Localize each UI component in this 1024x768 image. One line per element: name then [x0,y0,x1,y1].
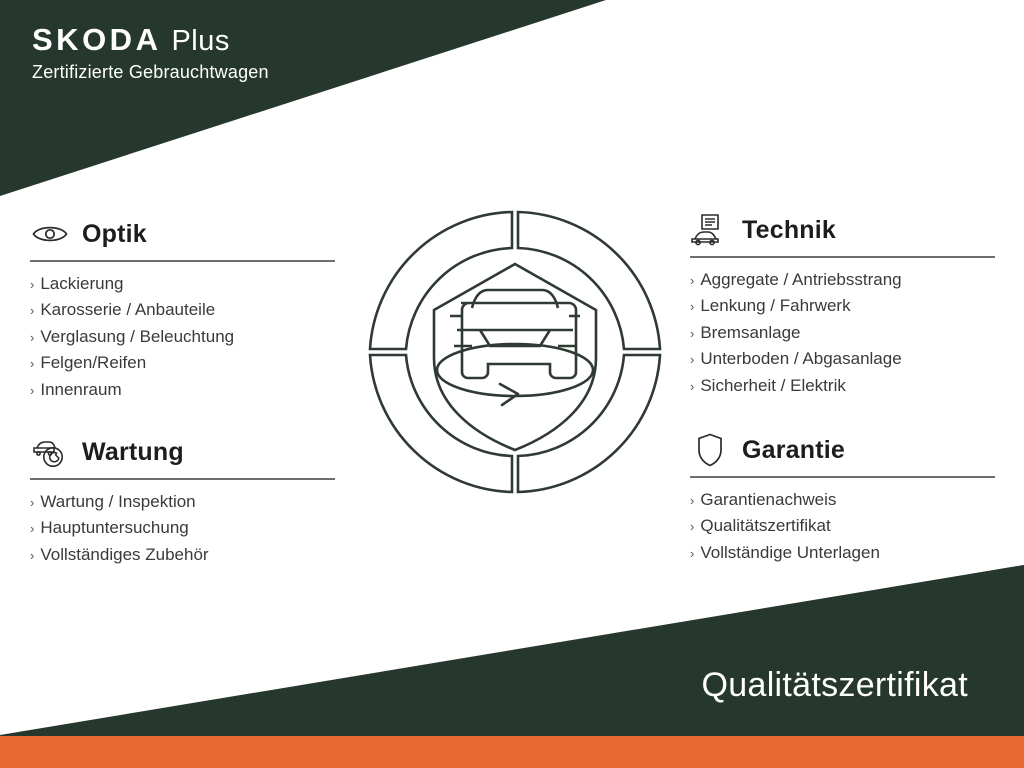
car-shield-rotation-emblem [362,198,668,518]
list-item: ›Bremsanlage [690,320,1000,346]
brand-lockup: SKODA Plus Zertifizierte Gebrauchtwagen [32,24,269,83]
section-technik-title: Technik [742,216,836,245]
shield-icon [690,430,730,470]
list-item: ›Hauptuntersuchung [30,515,340,541]
list-item: ›Sicherheit / Elektrik [690,373,1000,399]
section-garantie-title: Garantie [742,436,845,465]
list-item: ›Garantienachweis [690,487,1000,513]
chevron-icon: › [30,298,34,323]
car-document-icon [690,210,730,250]
brand-name: SKODA [32,24,161,55]
list-item-label: Unterboden / Abgasanlage [700,346,901,371]
section-garantie-list: ›Garantienachweis ›Qualitätszertifikat ›… [690,487,1000,566]
list-item-label: Wartung / Inspektion [40,489,195,514]
list-item: ›Aggregate / Antriebsstrang [690,267,1000,293]
brand-row: SKODA Plus [32,24,269,56]
section-optik: Optik ›Lackierung ›Karosserie / Anbautei… [30,212,340,403]
chevron-icon: › [690,268,694,293]
section-technik: Technik ›Aggregate / Antriebsstrang ›Len… [690,208,1000,399]
chevron-icon: › [30,490,34,515]
section-wartung-list: ›Wartung / Inspektion ›Hauptuntersuchung… [30,489,340,568]
chevron-icon: › [30,351,34,376]
list-item-label: Felgen/Reifen [40,350,146,375]
list-item: ›Vollständige Unterlagen [690,540,1000,566]
list-item-label: Lenkung / Fahrwerk [700,293,850,318]
chevron-icon: › [30,325,34,350]
list-item-label: Sicherheit / Elektrik [700,373,846,398]
footer-title: Qualitätszertifikat [702,668,968,702]
chevron-icon: › [30,378,34,403]
chevron-icon: › [690,294,694,319]
list-item: ›Verglasung / Beleuchtung [30,324,340,350]
list-item-label: Aggregate / Antriebsstrang [700,267,901,292]
list-item-label: Verglasung / Beleuchtung [40,324,234,349]
section-technik-header: Technik [690,208,1000,252]
section-garantie-rule [690,476,995,478]
section-wartung-header: Wartung [30,430,340,474]
certificate-page: SKODA Plus Zertifizierte Gebrauchtwagen … [0,0,1024,768]
list-item-label: Vollständiges Zubehör [40,542,208,567]
emblem-car-front [450,290,580,378]
list-item-label: Hauptuntersuchung [40,515,188,540]
emblem-orbit [437,344,593,396]
emblem-shield [434,264,596,450]
section-optik-rule [30,260,335,262]
section-optik-title: Optik [82,220,147,249]
chevron-icon: › [690,347,694,372]
list-item-label: Lackierung [40,271,123,296]
list-item: ›Lackierung [30,271,340,297]
list-item: ›Innenraum [30,377,340,403]
list-item: ›Lenkung / Fahrwerk [690,293,1000,319]
list-item: ›Unterboden / Abgasanlage [690,346,1000,372]
section-garantie: Garantie ›Garantienachweis ›Qualitätszer… [690,428,1000,566]
car-wrench-icon [30,432,70,472]
list-item: ›Felgen/Reifen [30,350,340,376]
chevron-icon: › [690,514,694,539]
list-item-label: Garantienachweis [700,487,836,512]
list-item-label: Vollständige Unterlagen [700,540,880,565]
chevron-icon: › [30,543,34,568]
section-wartung-rule [30,478,335,480]
list-item: ›Karosserie / Anbauteile [30,297,340,323]
chevron-icon: › [690,541,694,566]
list-item-label: Bremsanlage [700,320,800,345]
chevron-icon: › [690,488,694,513]
list-item: ›Vollständiges Zubehör [30,542,340,568]
brand-suffix: Plus [171,27,229,56]
chevron-icon: › [30,516,34,541]
section-optik-header: Optik [30,212,340,256]
list-item-label: Innenraum [40,377,121,402]
bottom-green-wedge [0,565,1024,736]
list-item-label: Qualitätszertifikat [700,513,830,538]
chevron-icon: › [30,272,34,297]
brand-subtitle: Zertifizierte Gebrauchtwagen [32,63,269,83]
section-wartung-title: Wartung [82,438,184,467]
section-wartung: Wartung ›Wartung / Inspektion ›Hauptunte… [30,430,340,568]
chevron-icon: › [690,321,694,346]
list-item-label: Karosserie / Anbauteile [40,297,215,322]
bottom-green-wedge-diagonal [14,565,1024,736]
orange-footer-bar [0,736,1024,768]
section-technik-rule [690,256,995,258]
chevron-icon: › [690,374,694,399]
list-item: ›Wartung / Inspektion [30,489,340,515]
section-garantie-header: Garantie [690,428,1000,472]
section-optik-list: ›Lackierung ›Karosserie / Anbauteile ›Ve… [30,271,340,403]
section-technik-list: ›Aggregate / Antriebsstrang ›Lenkung / F… [690,267,1000,399]
eye-icon [30,214,70,254]
list-item: ›Qualitätszertifikat [690,513,1000,539]
